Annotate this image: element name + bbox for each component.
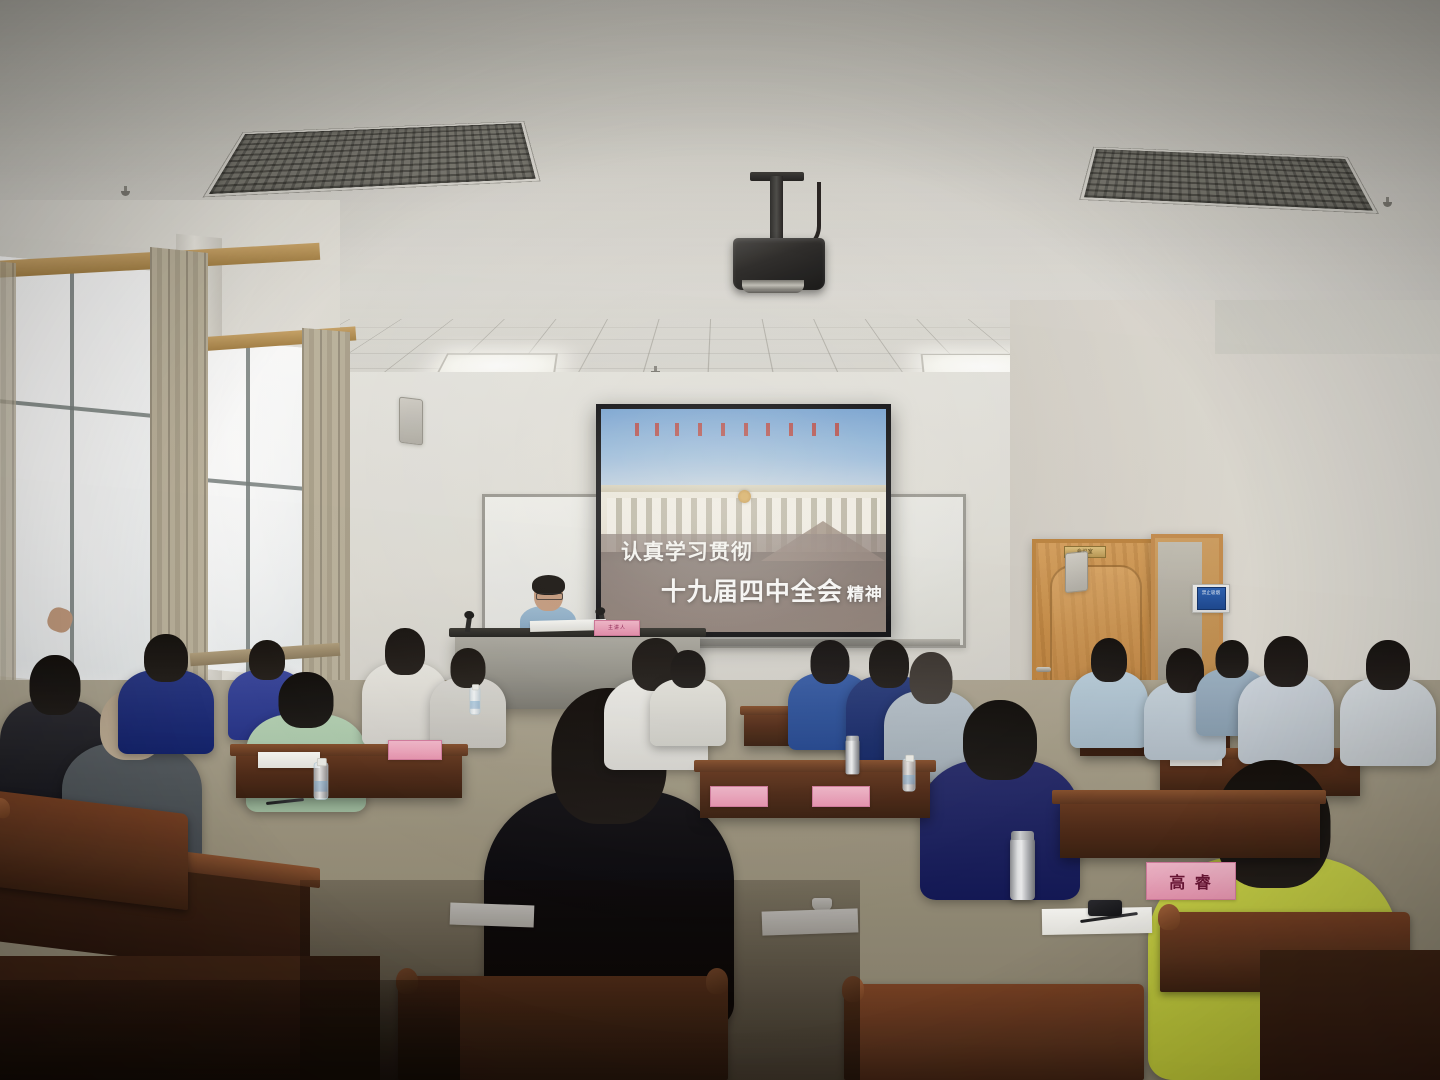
name-card — [812, 786, 870, 807]
conference-room-photo: 认真学习贯彻 十九届四中全会精神 会议室 禁止吸烟 — [0, 0, 1440, 1080]
slide-flag — [835, 423, 839, 436]
presenter-hair — [532, 575, 565, 595]
water-bottle — [903, 758, 916, 791]
slide-flag — [812, 423, 816, 436]
foreground-shadow — [0, 980, 460, 1080]
projector-mount-rod — [770, 176, 783, 242]
attendee-head — [910, 652, 953, 704]
slide-flag — [744, 423, 748, 436]
attendee — [1070, 638, 1148, 748]
sprinkler-head — [121, 186, 130, 197]
thermos-flask — [846, 740, 860, 775]
slide-flag — [766, 423, 770, 436]
slide-flag — [635, 423, 639, 436]
desk-top — [1052, 790, 1326, 804]
attendee-head — [1264, 636, 1308, 687]
attendee — [650, 650, 726, 746]
attendee-head — [811, 640, 850, 684]
water-bottle — [470, 687, 481, 715]
no-smoking-sign-cn: 禁止吸烟 — [1202, 591, 1220, 596]
attendee-torso — [1070, 671, 1148, 748]
glasses-icon — [536, 593, 563, 600]
water-bottle — [314, 762, 329, 800]
no-smoking-sign: 禁止吸烟 — [1192, 584, 1230, 613]
attendee — [1238, 636, 1334, 764]
door-handle[interactable] — [1036, 667, 1051, 672]
window — [0, 255, 174, 693]
sprinkler-head — [1383, 197, 1392, 208]
curtain — [0, 261, 16, 693]
slide-flag — [698, 423, 702, 436]
window-daylight — [0, 255, 174, 693]
slide-headline-main: 十九届四中全会 — [661, 577, 843, 606]
attendee-head — [144, 634, 188, 682]
slide-flag — [675, 423, 679, 436]
attendee-head — [1091, 638, 1127, 682]
name-card-gao-rui: 高 睿 — [1146, 862, 1236, 900]
attendee-torso — [650, 679, 726, 746]
name-card — [710, 786, 768, 807]
wall-speaker — [399, 397, 423, 446]
chair[interactable] — [844, 984, 1144, 1080]
name-card — [388, 740, 442, 760]
slide-flag — [789, 423, 793, 436]
desk-top — [694, 760, 936, 772]
attendee-torso — [118, 670, 214, 754]
slide-headline-line1: 认真学习贯彻 — [621, 536, 753, 566]
attendee — [118, 634, 214, 754]
attendee-head — [671, 650, 706, 688]
wall-speaker — [1065, 551, 1088, 593]
no-smoking-sign-face: 禁止吸烟 — [1197, 587, 1226, 610]
slide-flag — [721, 423, 725, 436]
mobile-phone — [1088, 900, 1122, 916]
projection-screen: 认真学习贯彻 十九届四中全会精神 — [596, 404, 891, 637]
slide-headline-line2: 十九届四中全会精神 — [661, 572, 883, 608]
attendee-torso — [1238, 674, 1334, 764]
attendee-head — [279, 672, 334, 728]
slide-headline-suffix: 精神 — [847, 585, 883, 605]
wall-smudge — [1215, 300, 1440, 354]
attendee-head — [1366, 640, 1410, 690]
attendee-torso — [920, 760, 1080, 900]
window-mullion — [246, 343, 250, 673]
thermos-flask — [1010, 838, 1035, 900]
desk — [1260, 950, 1440, 1080]
attendee-torso — [1340, 678, 1436, 766]
slide-flag — [655, 423, 659, 436]
attendee-head — [385, 628, 425, 675]
desk — [1060, 800, 1320, 858]
projected-slide: 认真学习贯彻 十九届四中全会精神 — [601, 409, 886, 632]
chair-finial — [1158, 904, 1180, 930]
projector-lens — [742, 280, 804, 293]
paper-document — [258, 752, 320, 768]
attendee-head — [451, 648, 486, 688]
attendee — [1340, 640, 1436, 766]
curtain — [302, 328, 350, 692]
attendee-head — [963, 700, 1037, 780]
podium-name-card: 主讲人 — [594, 620, 640, 636]
